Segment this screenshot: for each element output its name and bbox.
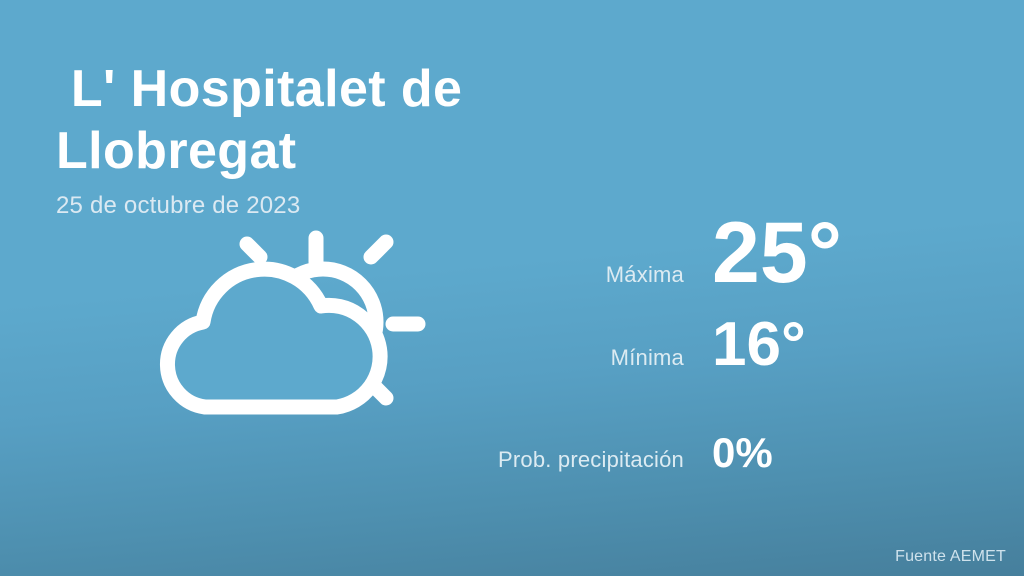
- partly-cloudy-sun-behind-cloud-icon: [143, 222, 433, 437]
- source-attribution: Fuente AEMET: [895, 548, 1006, 566]
- header-block: L' Hospitalet de Llobregat 25 de octubre…: [56, 58, 676, 220]
- reading-row-minima: Mínima 16°: [430, 314, 930, 432]
- reading-value-maxima: 25°: [684, 210, 930, 296]
- readings-list: Máxima 25° Mínima 16° Prob. precipitació…: [430, 210, 930, 502]
- page-title: L' Hospitalet de Llobregat: [56, 58, 676, 182]
- reading-label-precipitation: Prob. precipitación: [498, 447, 684, 482]
- sun-ray-upper-right: [371, 242, 386, 257]
- reading-value-minima: 16°: [684, 314, 930, 376]
- reading-value-precipitation: 0%: [684, 432, 930, 474]
- sun-ray-upper-left: [247, 244, 260, 257]
- cloud-occluder: [167, 269, 380, 407]
- weather-forecast-card: L' Hospitalet de Llobregat 25 de octubre…: [0, 0, 1024, 576]
- reading-label-minima: Mínima: [611, 345, 684, 385]
- reading-row-precipitation: Prob. precipitación 0%: [430, 432, 930, 502]
- reading-label-maxima: Máxima: [606, 262, 684, 310]
- reading-row-maxima: Máxima 25°: [430, 210, 930, 314]
